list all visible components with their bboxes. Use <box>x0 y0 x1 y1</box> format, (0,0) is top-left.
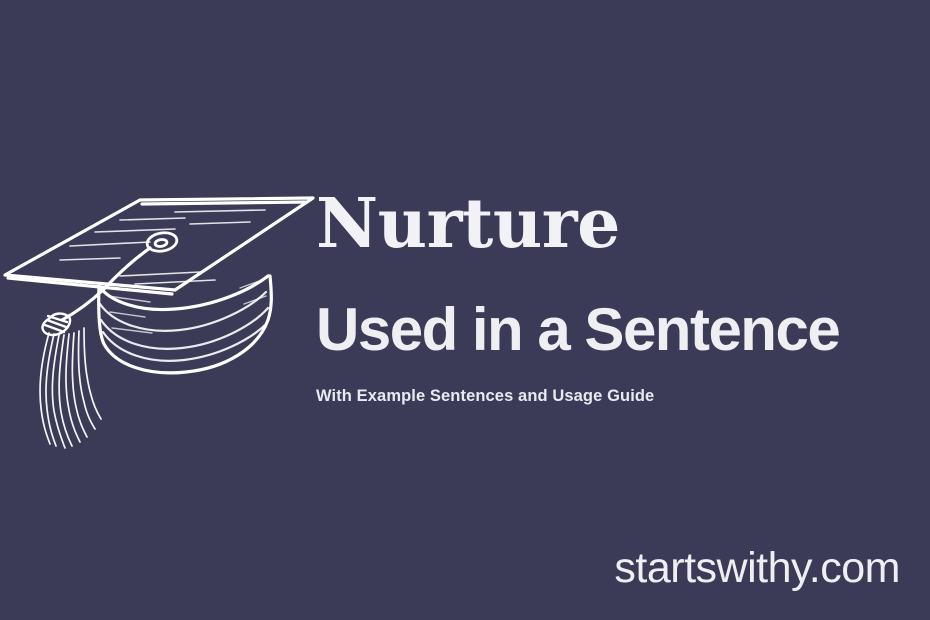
word-banner: Nurture Used in a Sentence With Example … <box>0 0 930 620</box>
graduation-cap-sketch <box>0 168 330 458</box>
headline: Used in a Sentence <box>316 258 916 360</box>
tassel-strands <box>40 328 101 448</box>
subcaption: With Example Sentences and Usage Guide <box>316 360 916 405</box>
text-block: Nurture Used in a Sentence With Example … <box>316 190 916 405</box>
site-brand: startswithy.com <box>614 547 900 590</box>
word-title: Nurture <box>316 190 916 258</box>
